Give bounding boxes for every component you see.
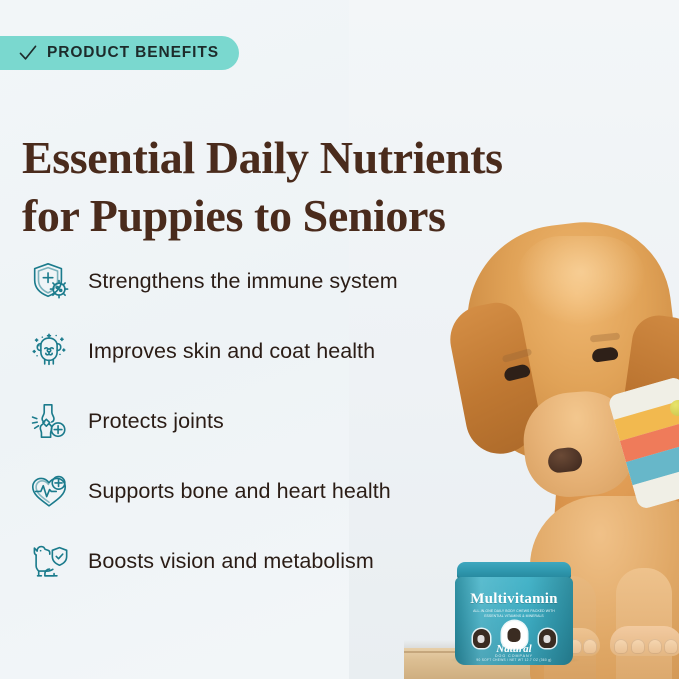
content-layer: PRODUCT BENEFITS Essential Daily Nutrien… xyxy=(0,0,679,679)
benefit-item-skin-coat: Improves skin and coat health xyxy=(26,316,496,386)
product-benefits-graphic: Multivitamin ALL-IN-ONE DAILY BODY CHEWS… xyxy=(0,0,679,679)
benefit-label: Boosts vision and metabolism xyxy=(88,548,374,574)
headline-line-2: for Puppies to Seniors xyxy=(22,187,667,245)
benefit-item-bone-heart: Supports bone and heart health xyxy=(26,456,496,526)
page-title: Essential Daily Nutrients for Puppies to… xyxy=(22,129,667,245)
benefit-item-vision-metabolism: Boosts vision and metabolism xyxy=(26,526,496,596)
heart-pulse-plus-icon xyxy=(26,468,72,514)
headline-line-1: Essential Daily Nutrients xyxy=(22,132,503,183)
benefit-label: Protects joints xyxy=(88,408,224,434)
dog-shield-check-icon xyxy=(26,538,72,584)
dog-face-sparkle-icon xyxy=(26,328,72,374)
benefit-label: Supports bone and heart health xyxy=(88,478,391,504)
product-benefits-badge: PRODUCT BENEFITS xyxy=(0,36,239,70)
benefit-item-immune: Strengthens the immune system xyxy=(26,246,496,316)
joint-bone-plus-icon xyxy=(26,398,72,444)
benefits-list: Strengthens the immune system xyxy=(26,246,496,596)
check-icon xyxy=(18,43,38,63)
benefit-item-joints: Protects joints xyxy=(26,386,496,456)
shield-plus-germ-icon xyxy=(26,258,72,304)
benefit-label: Strengthens the immune system xyxy=(88,268,398,294)
benefit-label: Improves skin and coat health xyxy=(88,338,375,364)
product-benefits-badge-label: PRODUCT BENEFITS xyxy=(47,44,219,62)
